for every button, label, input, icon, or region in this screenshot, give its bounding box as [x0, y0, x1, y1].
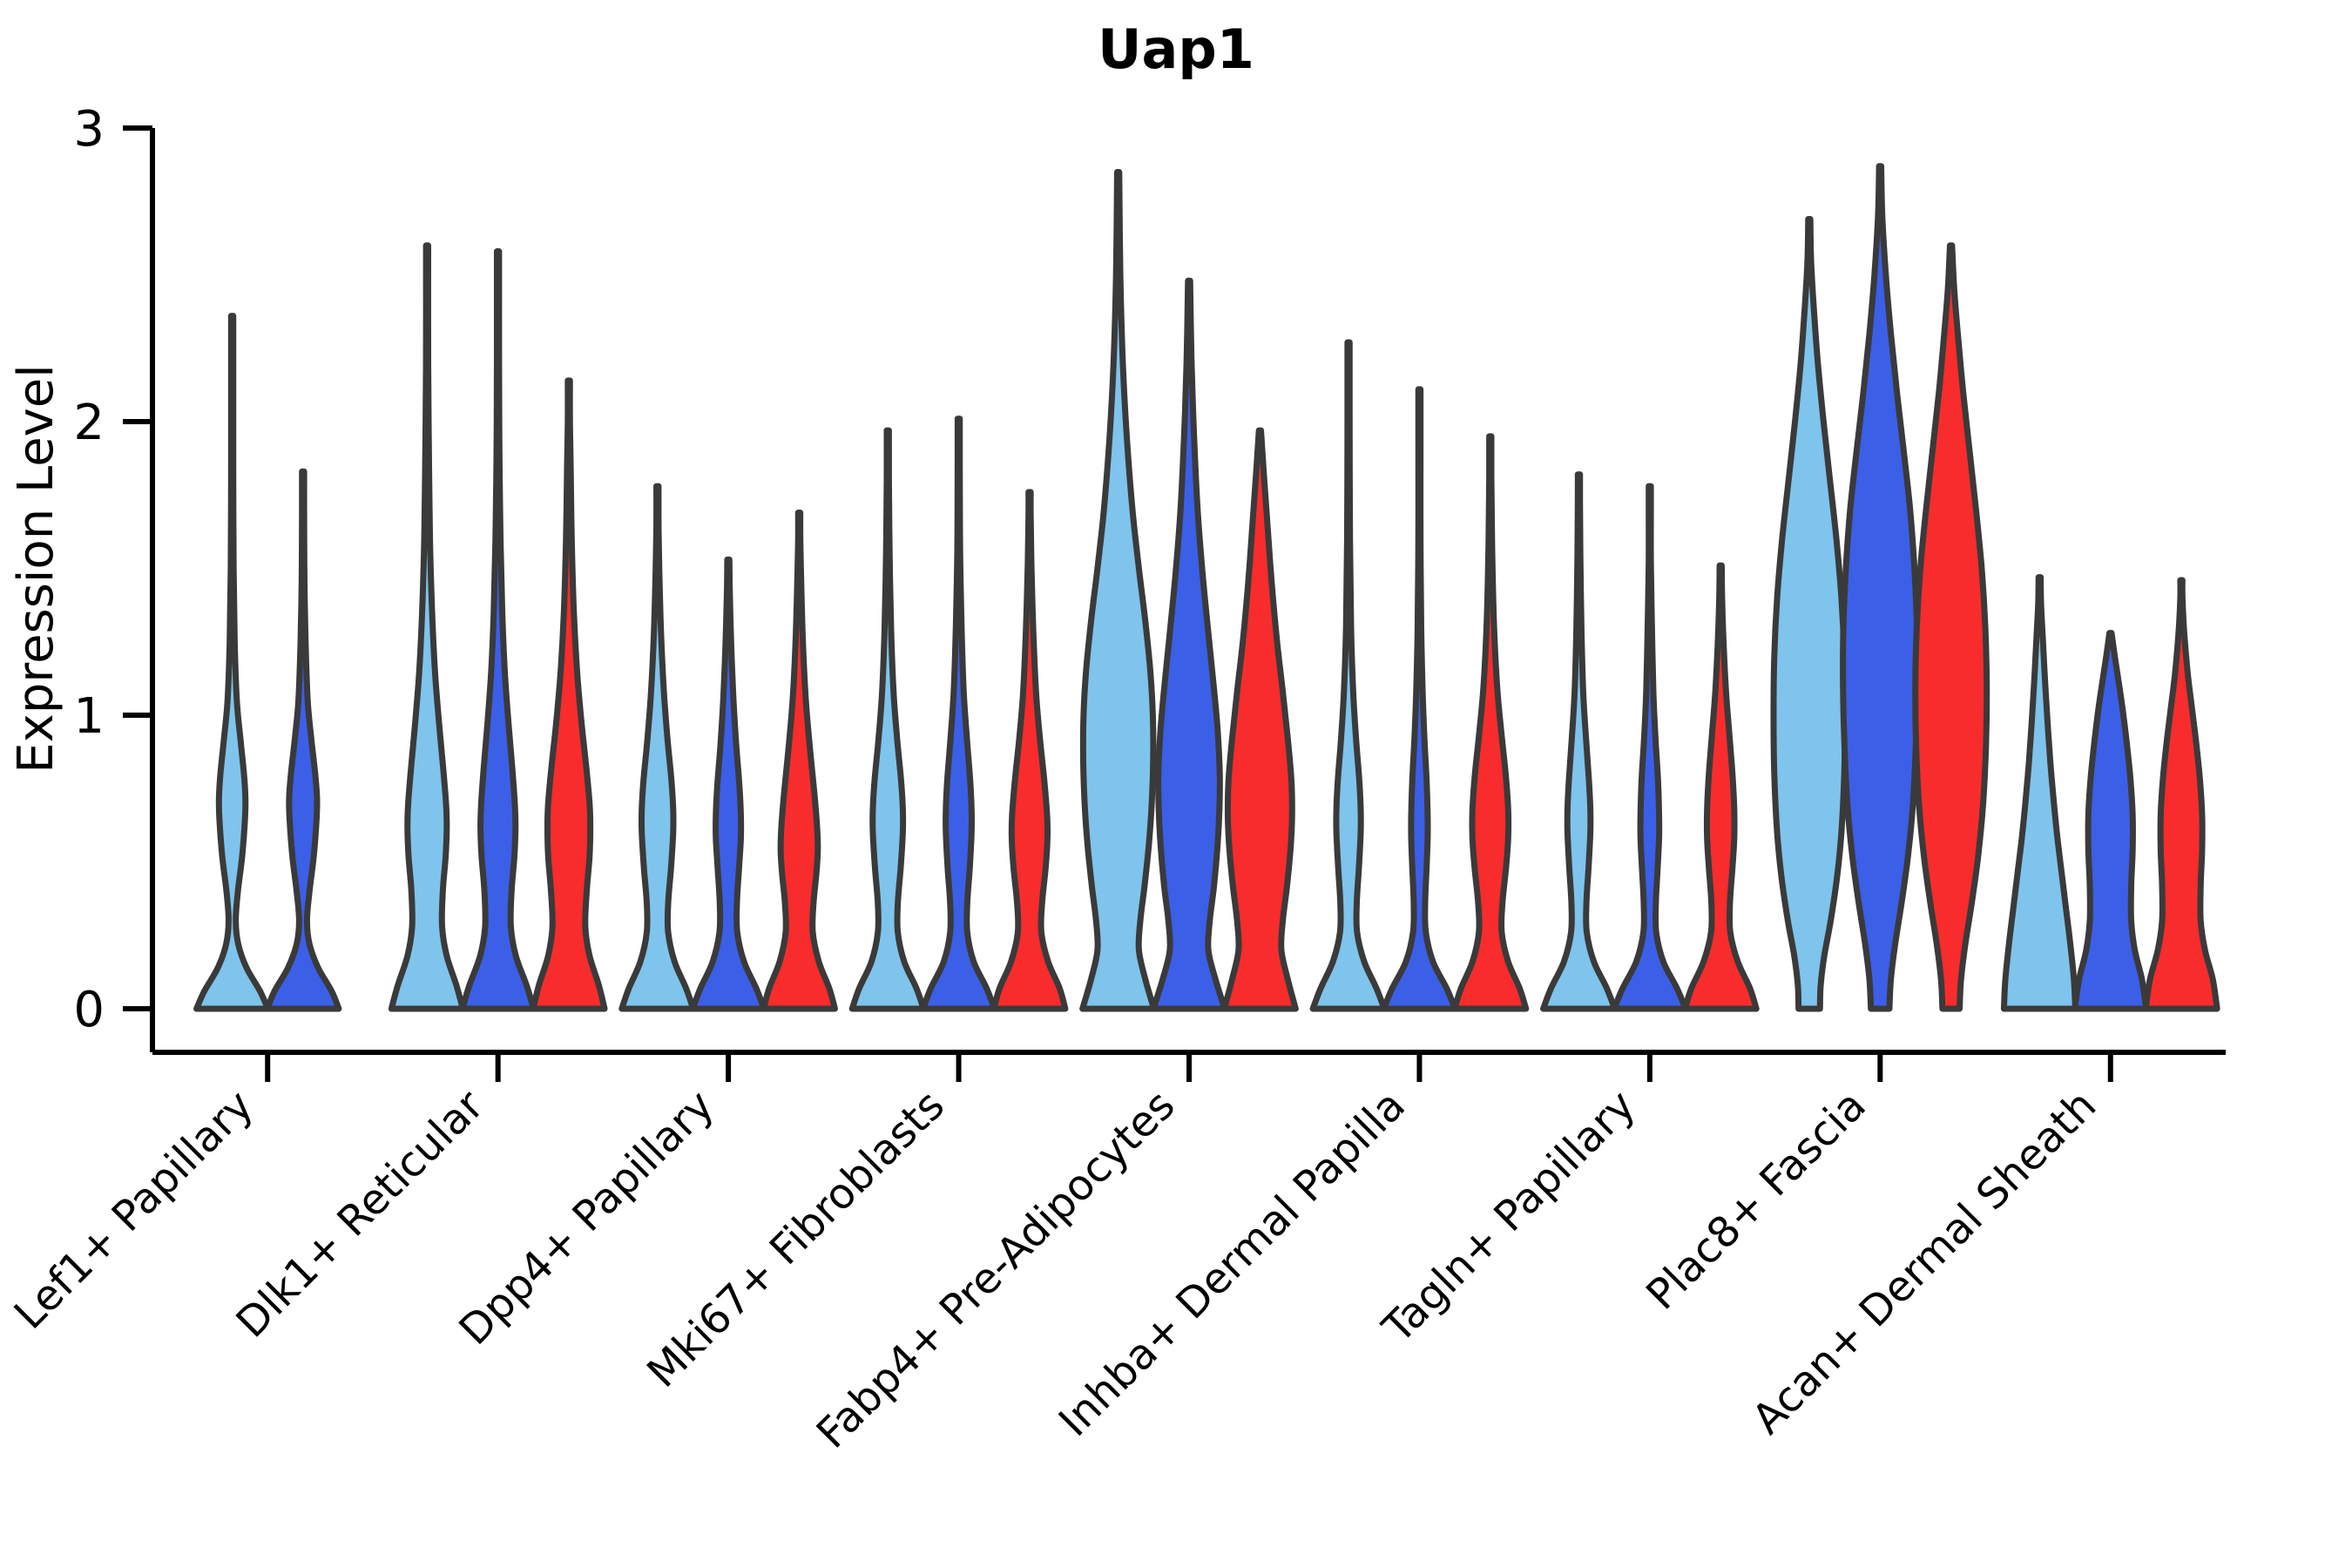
violin-5-group-2 [1153, 280, 1225, 1009]
violin-6-group-3 [1455, 436, 1526, 1009]
chart-title: Uap1 [1098, 17, 1254, 81]
y-tick-label-1: 1 [73, 688, 105, 745]
x-tick-label-7: Tagln+ Papillary [1373, 1081, 1645, 1353]
violin-8-group-1 [1774, 219, 1845, 1009]
violin-4-group-3 [994, 492, 1065, 1009]
violin-1-group-2 [267, 471, 339, 1009]
violin-8-group-3 [1916, 246, 1987, 1009]
violin-7-group-3 [1685, 565, 1756, 1009]
violin-5-group-3 [1224, 430, 1295, 1009]
violin-9-group-3 [2146, 580, 2217, 1009]
violin-1-group-1 [197, 316, 268, 1009]
violin-2-group-3 [533, 381, 605, 1009]
violin-plot-figure: Uap1 Expression Level 0123 Lef1+ Papilla… [0, 0, 2352, 1568]
violin-6-group-1 [1313, 342, 1384, 1009]
y-tick-label-0: 0 [73, 982, 105, 1038]
y-axis-ticks: 0123 [73, 101, 152, 1038]
y-tick-label-3: 3 [73, 101, 105, 158]
violin-3-group-3 [763, 512, 835, 1009]
y-axis-label: Expression Level [8, 364, 64, 774]
violin-3-group-1 [622, 486, 693, 1009]
violin-2-group-2 [463, 252, 534, 1009]
violin-9-group-2 [2075, 633, 2146, 1009]
violin-4-group-2 [923, 419, 995, 1009]
x-tick-label-3: Dpp4+ Papillary [450, 1081, 724, 1355]
violin-7-group-1 [1544, 475, 1615, 1009]
violin-5-group-1 [1083, 172, 1154, 1009]
x-axis-ticks: Lef1+ PapillaryDlk1+ ReticularDpp4+ Papi… [5, 1052, 2111, 1458]
violin-3-group-2 [693, 559, 764, 1009]
y-tick-label-2: 2 [73, 395, 105, 451]
x-tick-label-1: Lef1+ Papillary [5, 1081, 263, 1339]
violin-6-group-2 [1383, 389, 1455, 1009]
violin-4-group-1 [852, 430, 923, 1009]
violin-7-group-2 [1614, 486, 1686, 1009]
violin-shapes-group [197, 166, 2218, 1009]
violin-9-group-1 [2004, 578, 2075, 1009]
x-tick-label-8: Plac8+ Fascia [1637, 1081, 1876, 1320]
violin-8-group-2 [1843, 166, 1917, 1009]
x-tick-label-2: Dlk1+ Reticular [226, 1081, 493, 1348]
plot-canvas: Uap1 Expression Level 0123 Lef1+ Papilla… [0, 0, 2352, 1568]
violin-2-group-1 [391, 246, 463, 1009]
